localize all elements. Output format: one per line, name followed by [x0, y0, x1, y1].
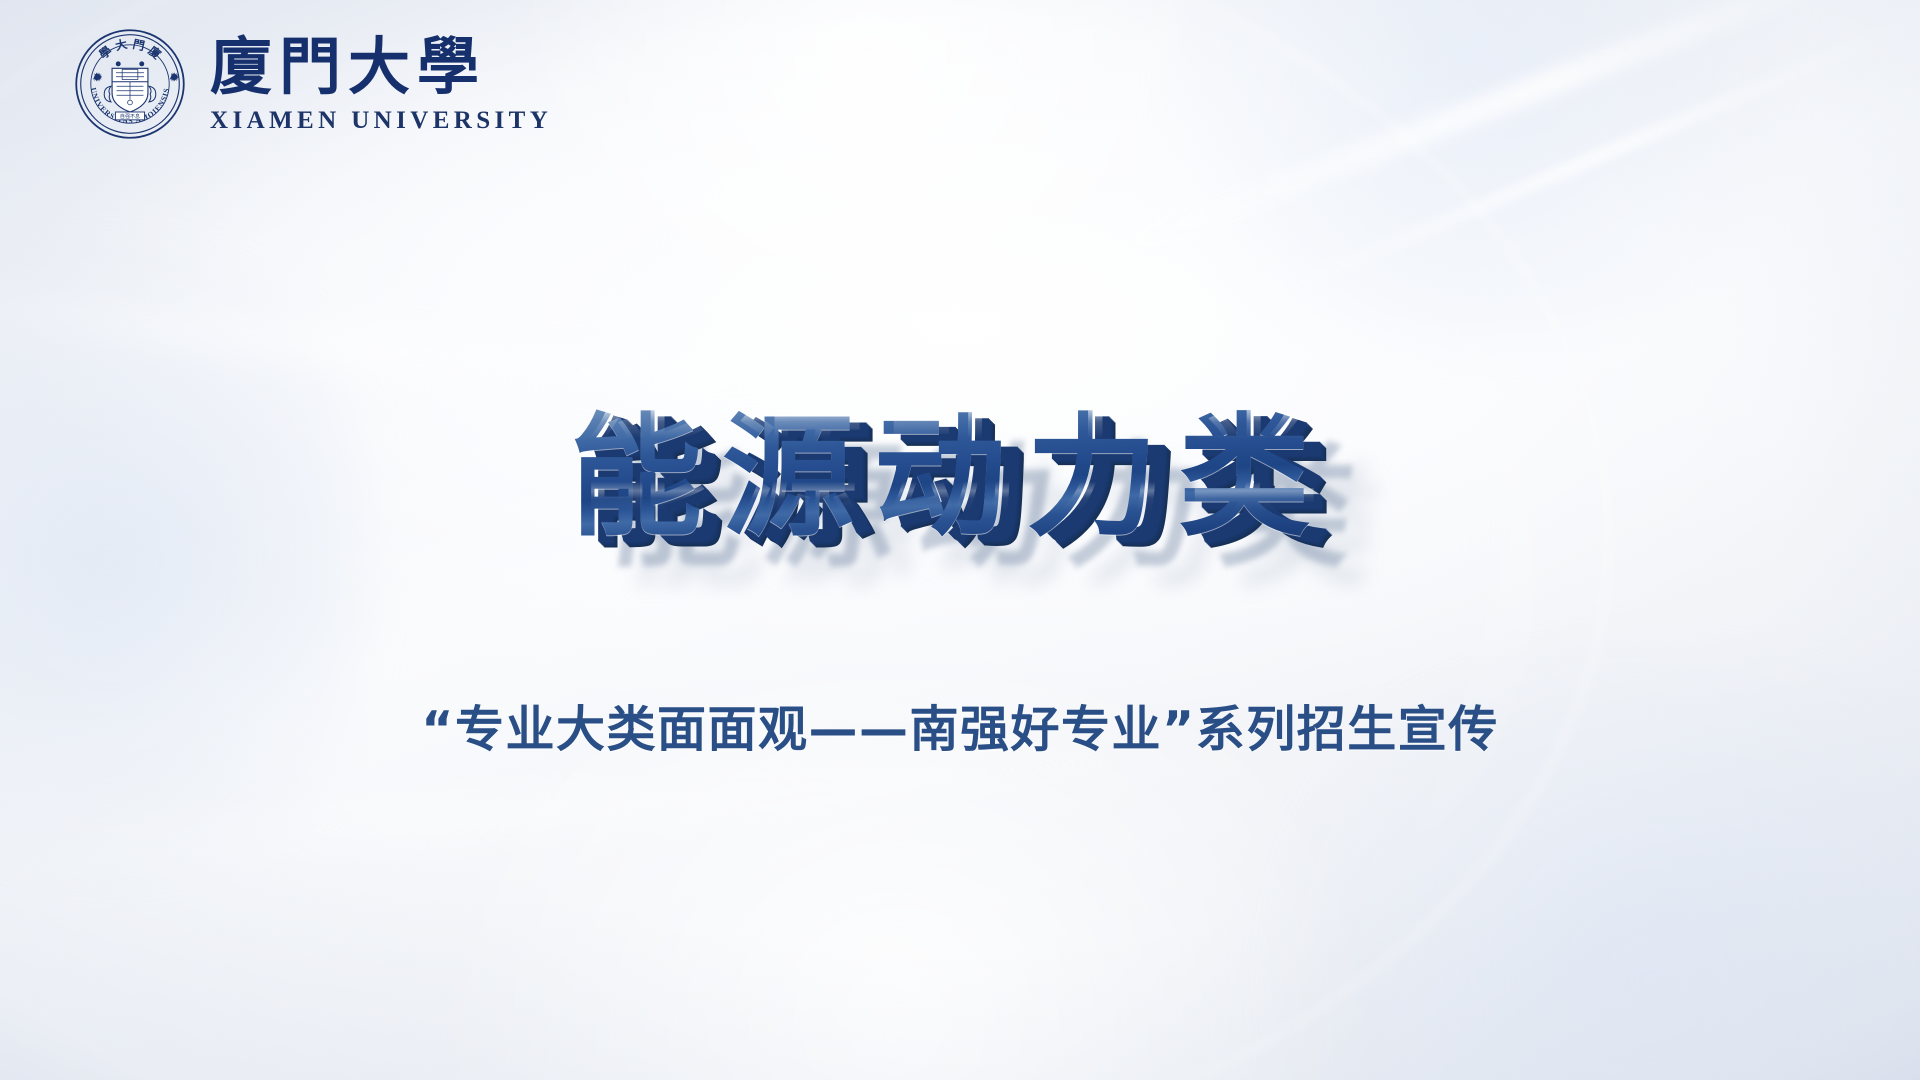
university-name-cn: 廈門大學 — [210, 36, 552, 98]
hero-title: 能源动力类 能源动力类 能源动力类 能源动力类 能源动力类 — [570, 402, 1350, 555]
light-streak-top-right — [1088, 0, 1920, 271]
hero-subtitle-block: “专业大类面面观——南强好专业”系列招生宣传 — [0, 690, 1920, 761]
hero-title-block: 能源动力类 能源动力类 能源动力类 能源动力类 能源动力类 — [0, 402, 1920, 555]
light-streak-top-right-thin — [1267, 0, 1920, 302]
slide-canvas: 學 大 門 廈 UNIVERSITAS AMOIENSIS — [0, 0, 1920, 1080]
background-cloud-blob — [420, 0, 1320, 360]
university-logo: 學 大 門 廈 UNIVERSITAS AMOIENSIS — [74, 28, 552, 140]
svg-text:自强不息: 自强不息 — [120, 113, 140, 120]
university-name-en: XIAMEN UNIVERSITY — [210, 107, 552, 135]
hero-title-face: 能源动力类 — [570, 401, 1330, 555]
hero-subtitle: “专业大类面面观——南强好专业”系列招生宣传 — [421, 690, 1498, 761]
xiamen-university-seal-icon: 學 大 門 廈 UNIVERSITAS AMOIENSIS — [74, 28, 186, 140]
background-cloud-blob — [1100, 0, 1860, 340]
background-cloud-blob — [0, 180, 370, 940]
university-name-lockup: 廈門大學 XIAMEN UNIVERSITY — [210, 34, 552, 135]
